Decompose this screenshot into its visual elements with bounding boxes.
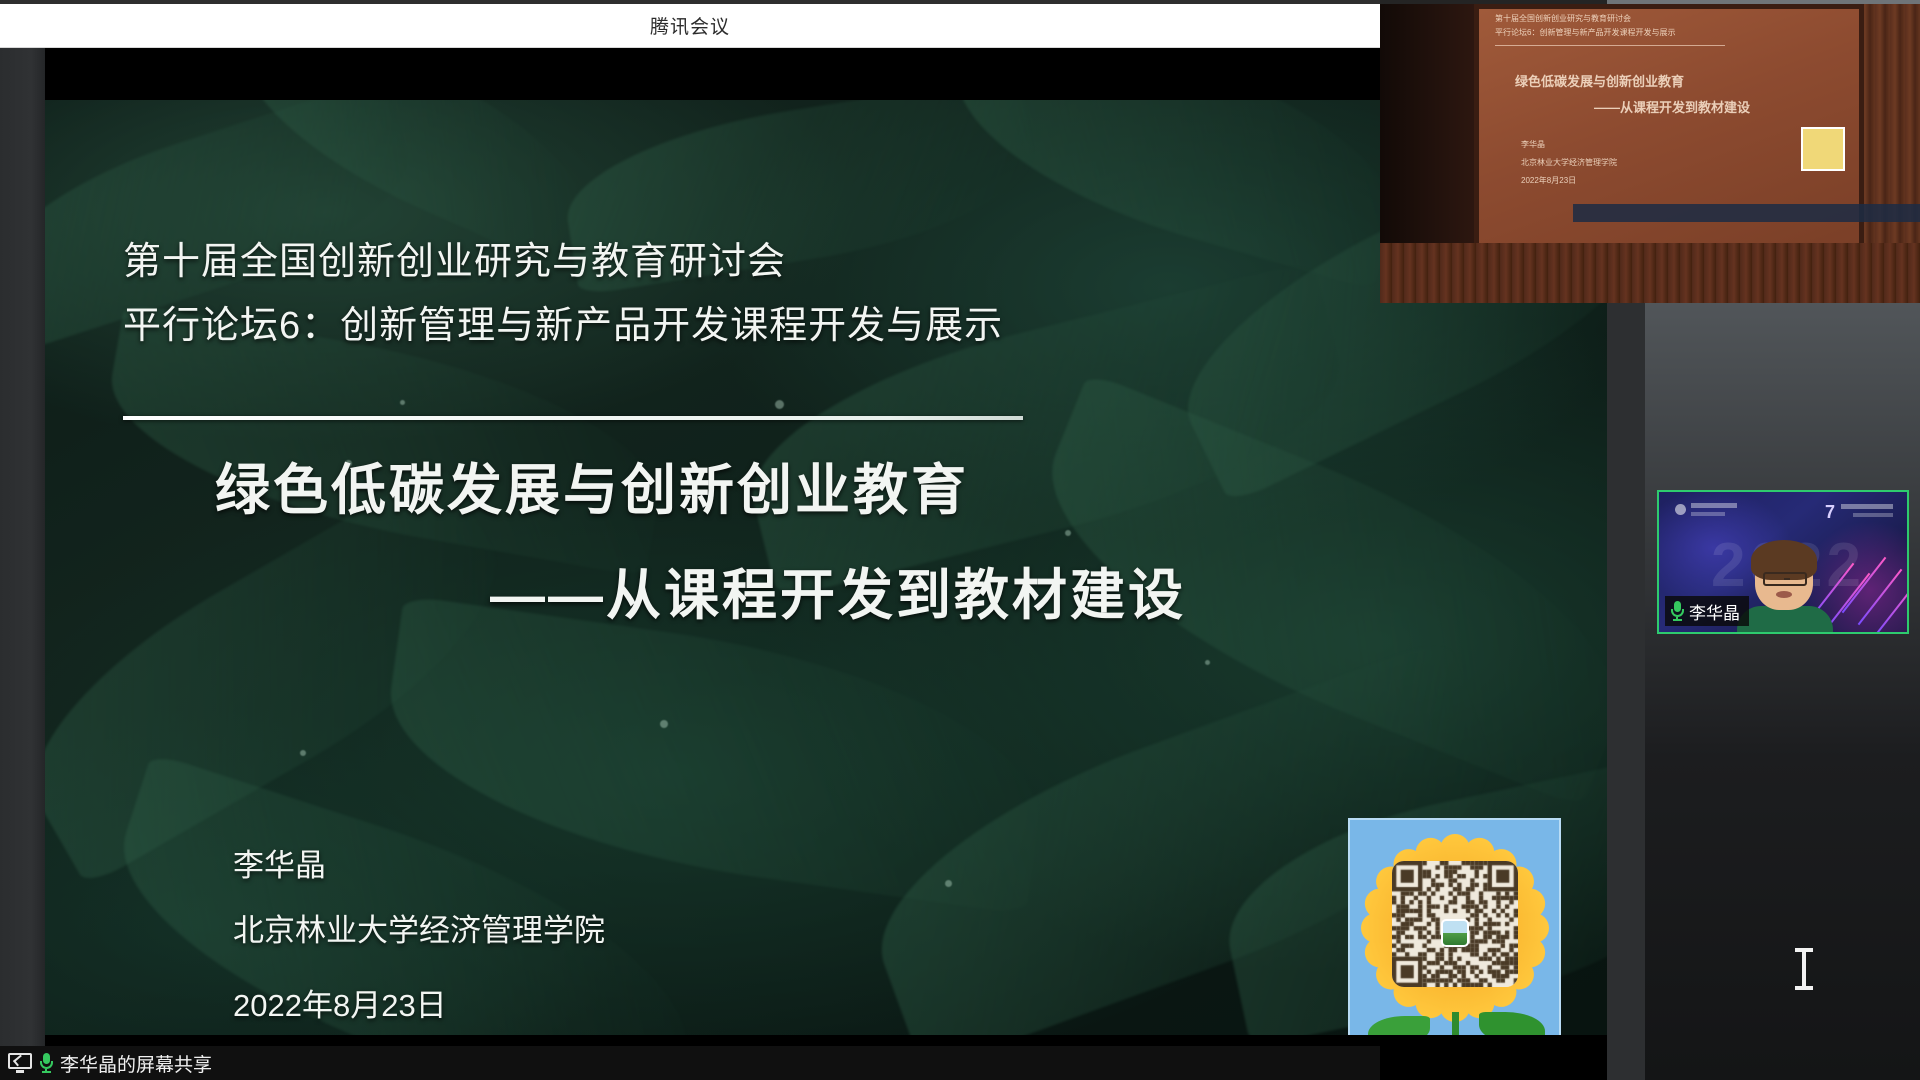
shared-screen-area[interactable]: 第十届全国创新创业研究与教育研讨会 平行论坛6：创新管理与新产品开发课程开发与展… xyxy=(45,48,1607,1080)
speaker-name-label: 李华晶 xyxy=(1689,599,1740,624)
slide-presentation-date: 2022年8月23日 xyxy=(233,980,447,1025)
app-root: 腾讯会议 第十届全国创新创业研究 xyxy=(0,0,1920,1080)
projected-title: 绿色低碳发展与创新创业教育 xyxy=(1515,71,1684,90)
qr-code-graphic xyxy=(1348,818,1561,1035)
qr-center-logo-icon xyxy=(1441,919,1469,947)
video-tile-room-camera[interactable]: 第十届全国创新创业研究与教育研讨会 平行论坛6：创新管理与新产品开发课程开发与展… xyxy=(1380,4,1920,303)
projected-taskbar xyxy=(1573,204,1920,222)
microphone-icon xyxy=(39,1053,53,1073)
text-ibeam-cursor xyxy=(1795,948,1813,990)
background-logo-left-text-bar xyxy=(1691,503,1737,508)
background-logo-left-icon xyxy=(1675,504,1686,515)
background-logo-right-text-bar xyxy=(1841,504,1893,509)
flower-stem-icon xyxy=(1452,1012,1459,1035)
window-title: 腾讯会议 xyxy=(650,12,730,39)
speaker-body xyxy=(1737,606,1833,634)
window-titlebar[interactable]: 腾讯会议 xyxy=(0,4,1380,48)
speaker-glasses xyxy=(1763,572,1807,586)
projected-header-2: 平行论坛6：创新管理与新产品开发课程开发与展示 xyxy=(1495,27,1675,38)
room-podium-texture xyxy=(1380,243,1920,303)
projected-divider xyxy=(1495,45,1725,46)
speaker-name-badge: 李华晶 xyxy=(1665,596,1749,626)
video-tile-speaker[interactable]: 2022 7 李华晶 xyxy=(1657,490,1909,634)
speaker-mouth xyxy=(1776,591,1792,598)
background-logo-right-text-bar-2 xyxy=(1853,513,1893,517)
projected-qr-code xyxy=(1801,127,1845,171)
screen-share-label: 李华晶的屏幕共享 xyxy=(60,1050,212,1077)
projected-subtitle: ——从课程开发到教材建设 xyxy=(1594,97,1750,116)
slide-presenter-organization: 北京林业大学经济管理学院 xyxy=(233,905,605,950)
slide-header-line-2: 平行论坛6：创新管理与新产品开发课程开发与展示 xyxy=(123,294,1003,349)
background-logo-right-icon: 7 xyxy=(1825,502,1835,523)
microphone-icon xyxy=(1670,601,1684,621)
projected-presenter-name: 李华晶 xyxy=(1521,139,1545,150)
monitor-share-icon xyxy=(8,1053,32,1073)
background-logo-left-text-bar-2 xyxy=(1691,512,1725,516)
presentation-slide: 第十届全国创新创业研究与教育研讨会 平行论坛6：创新管理与新产品开发课程开发与展… xyxy=(45,100,1607,1035)
projected-presenter-org: 北京林业大学经济管理学院 xyxy=(1521,157,1617,168)
slide-presenter-name: 李华晶 xyxy=(233,840,326,885)
screen-share-statusbar: 李华晶的屏幕共享 xyxy=(0,1046,1380,1080)
projector-screen: 第十届全国创新创业研究与教育研讨会 平行论坛6：创新管理与新产品开发课程开发与展… xyxy=(1474,4,1864,257)
projected-presentation-date: 2022年8月23日 xyxy=(1521,175,1576,186)
left-gutter xyxy=(0,48,45,1080)
slide-header-line-1: 第十届全国创新创业研究与教育研讨会 xyxy=(123,230,786,285)
slide-divider-rule xyxy=(123,416,1023,420)
slide-title-main: 绿色低碳发展与创新创业教育 xyxy=(215,445,969,525)
projected-header-1: 第十届全国创新创业研究与教育研讨会 xyxy=(1495,13,1631,24)
slide-title-subtitle: ——从课程开发到教材建设 xyxy=(490,550,1186,630)
